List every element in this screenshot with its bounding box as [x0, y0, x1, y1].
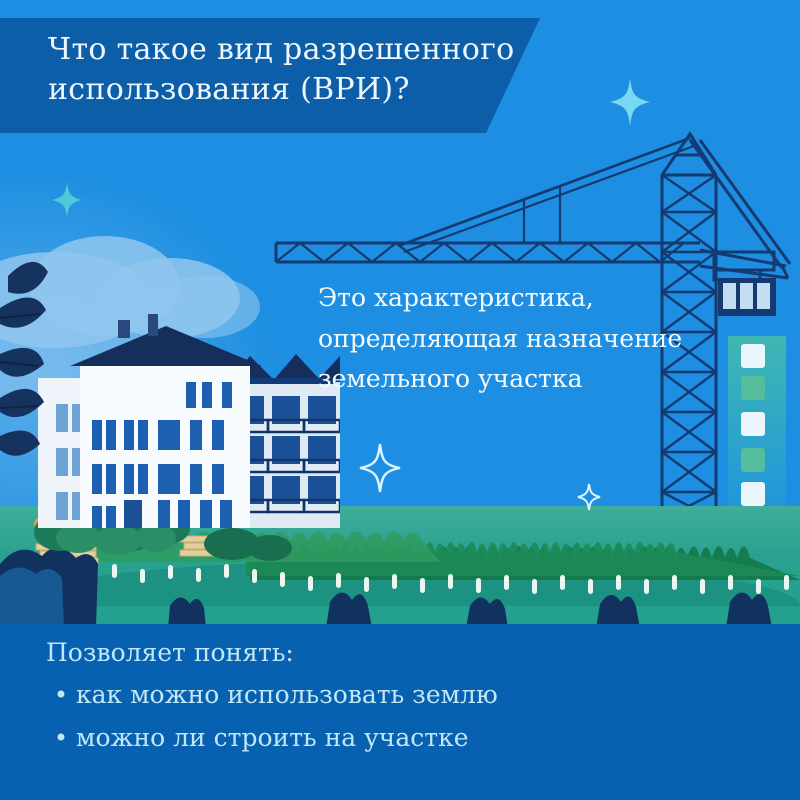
list-item: • можно ли строить на участке	[46, 719, 746, 757]
list-item: • как можно использовать землю	[46, 676, 746, 714]
sparkle-outline-mid-icon	[358, 442, 402, 494]
sparkle-outline-small-icon	[576, 482, 602, 512]
lead-line-2: определяющая назначение	[318, 319, 718, 360]
panel-square-white	[741, 344, 765, 368]
panel-square-green	[741, 448, 765, 472]
leaf-decoration	[0, 236, 120, 536]
bottom-panel: Позволяет понять: • как можно использова…	[0, 624, 800, 800]
bottom-bullet-list: • как можно использовать землю • можно л…	[46, 676, 746, 762]
panel-square-white	[741, 482, 765, 506]
lead-line-3: земельного участка	[318, 359, 718, 400]
list-item-label: можно ли строить на участке	[76, 719, 469, 757]
bullet-dot-icon: •	[46, 676, 76, 714]
page-title: Что такое вид разрешенного использования…	[48, 30, 518, 109]
lead-paragraph: Это характеристика, определяющая назначе…	[318, 278, 718, 400]
infographic-poster: Что такое вид разрешенного использования…	[0, 0, 800, 800]
sparkle-filled-left-icon	[52, 182, 82, 218]
list-item-label: как можно использовать землю	[76, 676, 498, 714]
crane-jib	[276, 243, 700, 262]
lead-line-1: Это характеристика,	[318, 278, 718, 319]
crane-tie-cable	[398, 138, 694, 252]
bottom-heading: Позволяет понять:	[46, 638, 294, 667]
title-line-2: использования (ВРИ)?	[48, 70, 518, 110]
sparkle-filled-top-right-icon	[610, 78, 650, 126]
bullet-dot-icon: •	[46, 719, 76, 757]
panel-square-green	[741, 376, 765, 400]
title-line-1: Что такое вид разрешенного	[48, 30, 518, 70]
panel-square-white	[741, 412, 765, 436]
